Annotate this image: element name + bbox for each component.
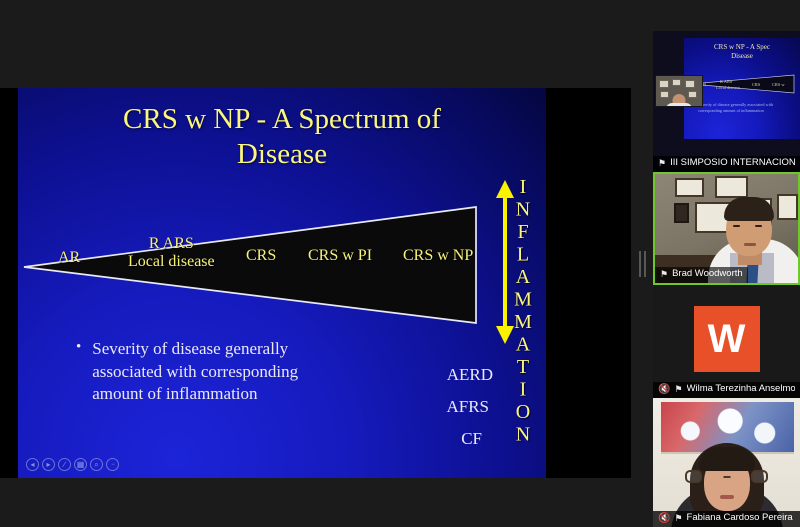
- pen-icon[interactable]: ∕: [58, 458, 71, 471]
- svg-text:R ARS: R ARS: [720, 79, 733, 84]
- presentation-slide[interactable]: CRS w NP - A Spectrum of Disease AR R AR…: [18, 88, 546, 478]
- spectrum-label-rars: R ARS Local disease: [128, 235, 215, 271]
- thumbnail-bullet-text: Severity of disease generally associated…: [698, 102, 778, 115]
- svg-text:CRS: CRS: [752, 82, 761, 87]
- bullet-marker: •: [76, 338, 81, 406]
- spectrum-label-crs-w-np: CRS w NP: [403, 247, 473, 265]
- pin-icon: ⚑: [674, 384, 682, 394]
- pin-icon: ⚑: [674, 513, 682, 523]
- grip-icon: [639, 251, 646, 277]
- participant-rail[interactable]: CRS w NP - A Spec Disease AR R ARS Local…: [653, 0, 800, 527]
- participant-name: III SIMPÓSIO INTERNACIONA: [670, 158, 795, 169]
- mic-muted-icon: 🔇: [658, 384, 670, 396]
- mic-muted-icon: 🔇: [658, 513, 670, 525]
- bullet-text: Severity of disease generally associated…: [92, 338, 346, 406]
- meeting-window: CRS w NP - A Spectrum of Disease AR R AR…: [0, 0, 800, 527]
- more-options-icon[interactable]: −: [106, 458, 119, 471]
- spectrum-label-rars-line1: R ARS: [128, 235, 215, 253]
- avatar: W: [694, 306, 760, 372]
- participant-name: Fabiana Cardoso Pereira V: [687, 513, 795, 524]
- spectrum-label-crs-w-pi: CRS w PI: [308, 247, 372, 265]
- slide-list-item-afrs: AFRS: [369, 397, 489, 417]
- thumbnail-pip-video: [655, 75, 703, 107]
- presenter-toolbar[interactable]: ◂ ▸ ∕ ▦ ⌕ −: [26, 458, 119, 471]
- resize-handle[interactable]: [631, 0, 653, 527]
- participant-video: [653, 398, 800, 527]
- inflammation-axis-label: INFLAMMATION: [515, 176, 531, 446]
- spectrum-label-crs: CRS: [246, 247, 276, 265]
- slide-list-item-aerd: AERD: [373, 365, 493, 385]
- slide-title: CRS w NP - A Spectrum of Disease: [18, 102, 546, 173]
- spectrum-label-rars-line2: Local disease: [128, 253, 215, 271]
- thumbnail-triangle-icon: AR R ARS Local disease CRS CRS w: [690, 71, 795, 97]
- thumbnail-title-line-2: Disease: [684, 52, 800, 61]
- participant-name-bar: 🔇 ⚑ Wilma Terezinha Anselmo: [653, 382, 800, 399]
- pin-icon: ⚑: [658, 158, 666, 168]
- prev-slide-icon[interactable]: ◂: [26, 458, 39, 471]
- spectrum-diagram: AR R ARS Local disease CRS CRS w PI CRS …: [18, 183, 546, 348]
- participant-name: Wilma Terezinha Anselmo: [687, 384, 795, 395]
- spectrum-label-ar: AR: [58, 249, 80, 267]
- participant-tile-brad-woodworth[interactable]: ⚑ Brad Woodworth: [653, 172, 800, 285]
- svg-text:CRS w: CRS w: [772, 82, 785, 87]
- participant-name-bar: ⚑ III SIMPÓSIO INTERNACIONA: [653, 156, 800, 172]
- spectrum-triangle-icon: [18, 183, 488, 348]
- thumbnail-slide-title: CRS w NP - A Spec Disease: [684, 43, 800, 61]
- zoom-icon[interactable]: ⌕: [90, 458, 103, 471]
- slide-bullet: • Severity of disease generally associat…: [76, 338, 346, 406]
- pin-icon: ⚑: [660, 269, 668, 279]
- participant-name: Brad Woodworth: [672, 269, 743, 280]
- participant-name-bar: 🔇 ⚑ Fabiana Cardoso Pereira V: [653, 511, 800, 527]
- thumbnail-title-line-1: CRS w NP - A Spec: [684, 43, 800, 52]
- slide-title-line-2: Disease: [18, 137, 546, 172]
- participant-tile-fabiana-cardoso-pereira[interactable]: 🔇 ⚑ Fabiana Cardoso Pereira V: [653, 398, 800, 527]
- shared-screen-stage[interactable]: CRS w NP - A Spectrum of Disease AR R AR…: [0, 0, 631, 527]
- participant-tile-screenshare[interactable]: CRS w NP - A Spec Disease AR R ARS Local…: [653, 31, 800, 172]
- next-slide-icon[interactable]: ▸: [42, 458, 55, 471]
- slide-list-item-cf: CF: [362, 429, 482, 449]
- slide-title-line-1: CRS w NP - A Spectrum of: [18, 102, 546, 137]
- participant-tile-wilma-terezinha-anselmo[interactable]: W 🔇 ⚑ Wilma Terezinha Anselmo: [653, 285, 800, 398]
- screenshare-thumbnail: CRS w NP - A Spec Disease AR R ARS Local…: [653, 31, 800, 172]
- participant-name-bar: ⚑ Brad Woodworth: [655, 267, 748, 283]
- svg-text:Local disease: Local disease: [716, 85, 740, 90]
- slides-icon[interactable]: ▦: [74, 458, 87, 471]
